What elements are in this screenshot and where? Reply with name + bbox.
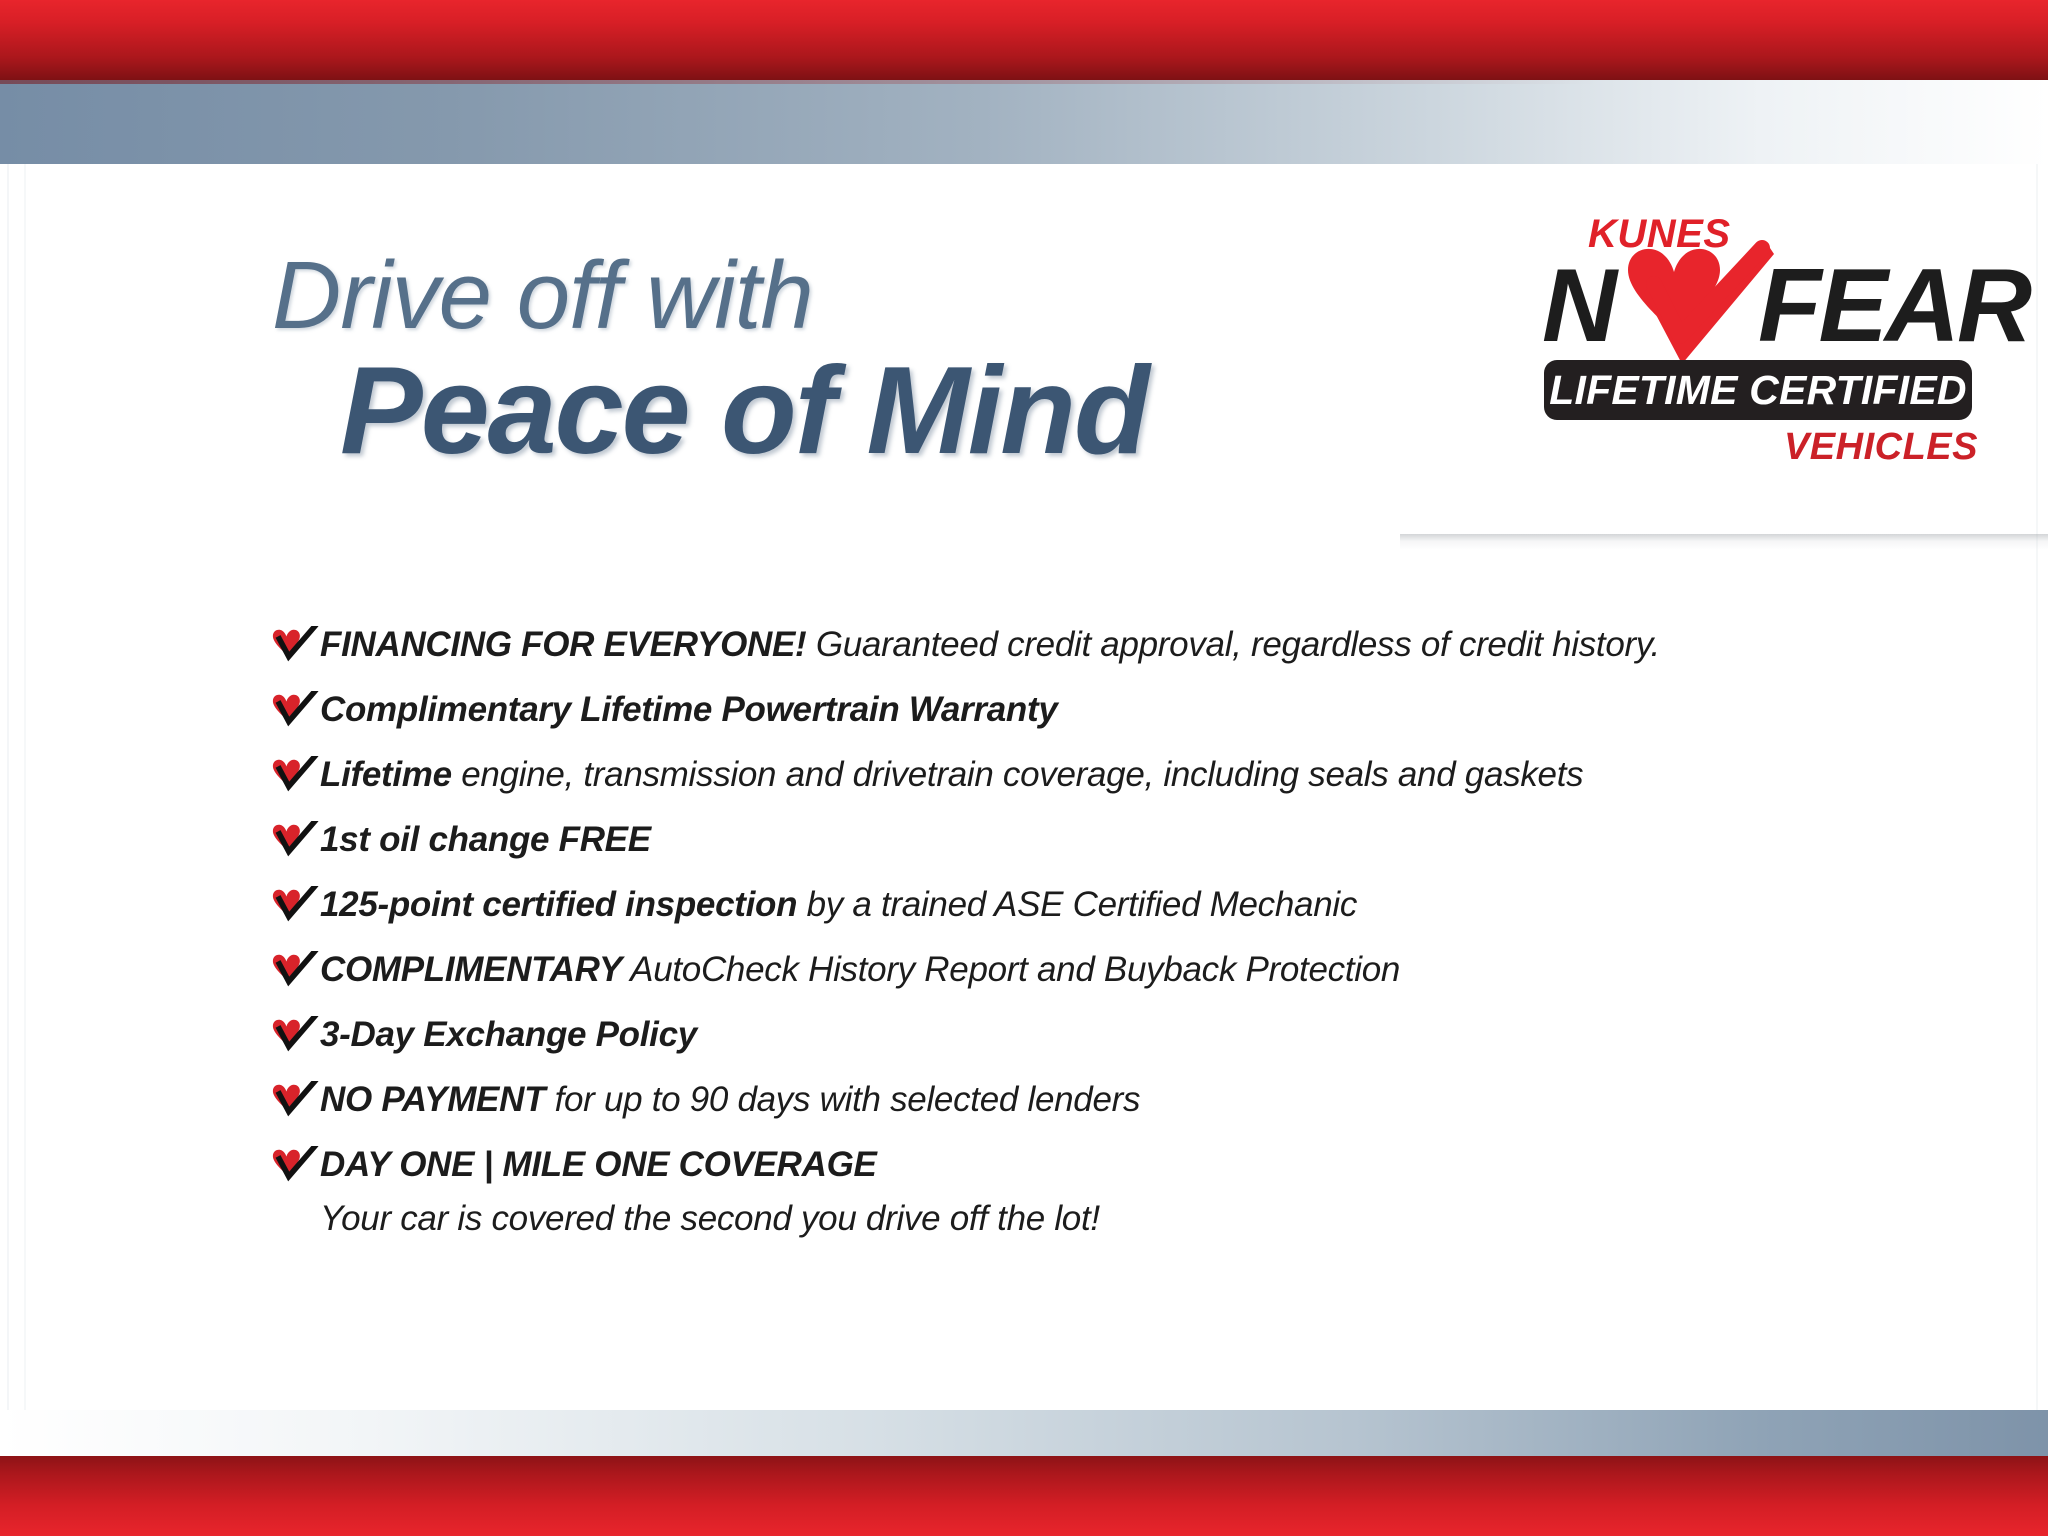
heart-check-icon [268, 886, 320, 930]
benefit-item-text: DAY ONE | MILE ONE COVERAGE [320, 1140, 877, 1187]
benefit-item: DAY ONE | MILE ONE COVERAGE [268, 1140, 1888, 1205]
benefit-item-highlight: 125-point certified inspection [320, 885, 797, 924]
benefit-item-text: NO PAYMENT for up to 90 days with select… [320, 1075, 1140, 1122]
logo-word-fear: FEAR [1758, 254, 2029, 358]
benefit-item-detail: Guaranteed credit approval, regardless o… [806, 625, 1660, 664]
heart-check-icon [268, 821, 320, 865]
benefit-item-subtext: Your car is covered the second you drive… [320, 1197, 1888, 1241]
left-edge-line-outer [7, 164, 9, 1410]
benefit-item: FINANCING FOR EVERYONE! Guaranteed credi… [268, 620, 1888, 685]
benefit-item-detail: AutoCheck History Report and Buyback Pro… [622, 950, 1400, 989]
heart-check-icon [268, 1146, 320, 1190]
benefit-item: Lifetime engine, transmission and drivet… [268, 750, 1888, 815]
right-edge-line [2036, 164, 2038, 1410]
heart-check-icon [268, 1081, 320, 1125]
benefit-item: 1st oil change FREE [268, 815, 1888, 880]
benefit-item-highlight: NO PAYMENT [320, 1080, 545, 1119]
logo-pill-label: LIFETIME CERTIFIED [1549, 370, 1966, 411]
benefit-item-highlight: COMPLIMENTARY [320, 950, 622, 989]
logo-certified-pill: LIFETIME CERTIFIED [1544, 360, 1972, 420]
benefit-item-highlight: FINANCING FOR EVERYONE! [320, 625, 806, 664]
heart-check-icon [268, 691, 320, 735]
heart-check-icon [268, 1016, 320, 1060]
benefit-item-detail: engine, transmission and drivetrain cove… [452, 755, 1584, 794]
benefit-item: Complimentary Lifetime Powertrain Warran… [268, 685, 1888, 750]
left-edge-line-inner [24, 164, 26, 1410]
benefit-item-highlight: 3-Day Exchange Policy [320, 1015, 697, 1054]
heart-check-icon [268, 951, 320, 995]
benefit-item-text: Complimentary Lifetime Powertrain Warran… [320, 685, 1058, 732]
bottom-red-border [0, 1456, 2048, 1536]
benefit-item-highlight: 1st oil change FREE [320, 820, 651, 859]
logo-underline-shadow [1400, 534, 2048, 550]
benefits-list: FINANCING FOR EVERYONE! Guaranteed credi… [268, 620, 1888, 1241]
logo-wordmark: N FEAR [1536, 252, 1984, 364]
headline-block: Drive off with Peace of Mind [272, 248, 1392, 474]
headline-line-2: Peace of Mind [340, 348, 1392, 474]
bottom-slate-border [0, 1410, 2048, 1456]
benefit-item-text: FINANCING FOR EVERYONE! Guaranteed credi… [320, 620, 1660, 667]
benefit-item: 125-point certified inspection by a trai… [268, 880, 1888, 945]
benefit-item-text: Lifetime engine, transmission and drivet… [320, 750, 1583, 797]
logo-vehicles-text: VEHICLES [1784, 426, 1978, 469]
benefit-item-highlight: Lifetime [320, 755, 452, 794]
benefit-item: NO PAYMENT for up to 90 days with select… [268, 1075, 1888, 1140]
benefit-item-detail: for up to 90 days with selected lenders [545, 1080, 1140, 1119]
logo-letter-n: N [1542, 254, 1613, 358]
top-slate-border [0, 80, 2048, 164]
benefit-item-highlight: DAY ONE | MILE ONE COVERAGE [320, 1145, 877, 1184]
benefit-item: COMPLIMENTARY AutoCheck History Report a… [268, 945, 1888, 1010]
benefit-item-highlight: Complimentary Lifetime Powertrain Warran… [320, 690, 1058, 729]
headline-line-1: Drive off with [272, 248, 1392, 344]
top-red-border [0, 0, 2048, 80]
benefit-item-detail: by a trained ASE Certified Mechanic [797, 885, 1357, 924]
benefit-item-text: 125-point certified inspection by a trai… [320, 880, 1357, 927]
benefit-item-text: COMPLIMENTARY AutoCheck History Report a… [320, 945, 1400, 992]
heart-check-icon [268, 626, 320, 670]
kunes-no-fear-logo: KUNES N FEAR LIFETIME CERTIFIED VEHICLES [1536, 212, 1984, 492]
benefit-item-text: 1st oil change FREE [320, 815, 651, 862]
heart-check-icon [268, 756, 320, 800]
benefit-item-text: 3-Day Exchange Policy [320, 1010, 697, 1057]
benefit-item: 3-Day Exchange Policy [268, 1010, 1888, 1075]
